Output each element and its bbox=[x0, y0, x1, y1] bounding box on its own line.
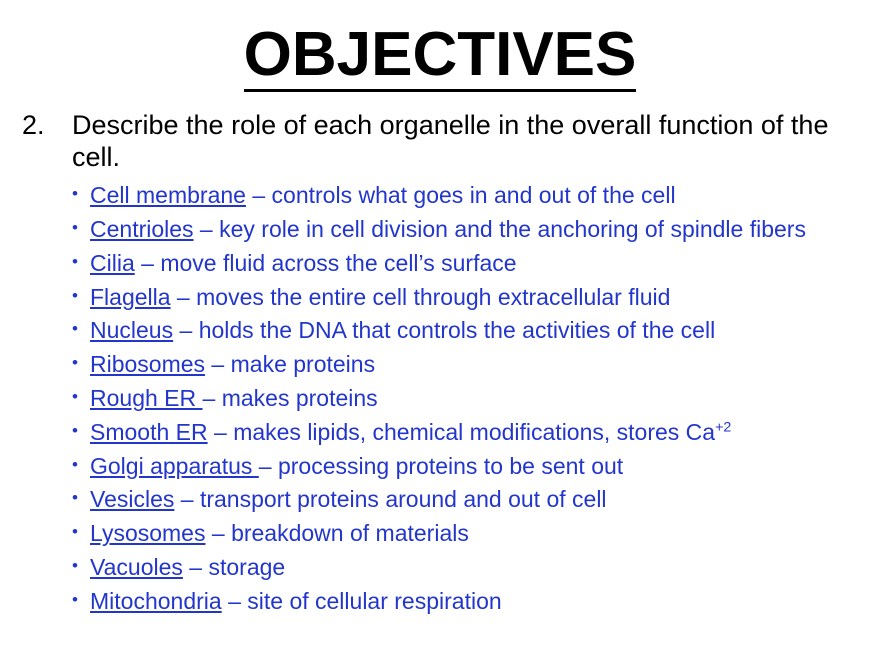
organelle-term: Mitochondria bbox=[90, 588, 222, 614]
organelle-description: breakdown of materials bbox=[231, 520, 469, 546]
slide-canvas: OBJECTIVES 2. Describe the role of each … bbox=[0, 0, 880, 660]
bullet-dot-icon: • bbox=[72, 213, 78, 243]
list-item: •Centrioles – key role in cell division … bbox=[0, 213, 880, 247]
list-item: •Rough ER – makes proteins bbox=[0, 382, 880, 416]
organelle-description: move fluid across the cell’s surface bbox=[160, 250, 516, 276]
organelle-description: makes lipids, chemical modifications, st… bbox=[233, 419, 715, 445]
organelle-term: Nucleus bbox=[90, 317, 173, 343]
term-separator: – bbox=[135, 250, 161, 276]
term-separator: – bbox=[173, 317, 199, 343]
bullet-dot-icon: • bbox=[72, 314, 78, 344]
term-separator: – bbox=[246, 182, 272, 208]
term-separator: – bbox=[183, 554, 209, 580]
organelle-description: moves the entire cell through extracellu… bbox=[196, 284, 670, 310]
term-separator: – bbox=[203, 385, 222, 411]
list-item: •Lysosomes – breakdown of materials bbox=[0, 517, 880, 551]
organelle-term: Cell membrane bbox=[90, 182, 246, 208]
list-item: •Flagella – moves the entire cell throug… bbox=[0, 281, 880, 315]
title-container: OBJECTIVES bbox=[0, 0, 880, 92]
list-item: •Cell membrane – controls what goes in a… bbox=[0, 179, 880, 213]
term-separator: – bbox=[194, 216, 220, 242]
organelle-term: Lysosomes bbox=[90, 520, 205, 546]
bullet-dot-icon: • bbox=[72, 517, 78, 547]
organelle-term: Vacuoles bbox=[90, 554, 183, 580]
list-item: •Nucleus – holds the DNA that controls t… bbox=[0, 314, 880, 348]
bullet-dot-icon: • bbox=[72, 281, 78, 311]
bullet-dot-icon: • bbox=[72, 348, 78, 378]
bullet-dot-icon: • bbox=[72, 179, 78, 209]
organelle-term: Flagella bbox=[90, 284, 171, 310]
charge-superscript: +2 bbox=[715, 419, 731, 435]
organelle-term: Cilia bbox=[90, 250, 135, 276]
page-title: OBJECTIVES bbox=[244, 22, 637, 92]
term-separator: – bbox=[208, 419, 234, 445]
organelle-description: make proteins bbox=[231, 351, 375, 377]
objective-text: Describe the role of each organelle in t… bbox=[72, 110, 828, 172]
organelle-description: processing proteins to be sent out bbox=[278, 453, 623, 479]
list-item: •Vesicles – transport proteins around an… bbox=[0, 483, 880, 517]
organelle-term: Ribosomes bbox=[90, 351, 205, 377]
organelle-list: •Cell membrane – controls what goes in a… bbox=[0, 179, 880, 618]
bullet-dot-icon: • bbox=[72, 416, 78, 446]
organelle-description: storage bbox=[209, 554, 286, 580]
bullet-dot-icon: • bbox=[72, 450, 78, 480]
organelle-description: makes proteins bbox=[222, 385, 378, 411]
term-separator: – bbox=[259, 453, 278, 479]
organelle-description: key role in cell division and the anchor… bbox=[219, 216, 806, 242]
list-item: •Golgi apparatus – processing proteins t… bbox=[0, 450, 880, 484]
organelle-term: Smooth ER bbox=[90, 419, 208, 445]
list-item: •Smooth ER – makes lipids, chemical modi… bbox=[0, 416, 880, 450]
organelle-description: transport proteins around and out of cel… bbox=[200, 486, 607, 512]
list-item: •Ribosomes – make proteins bbox=[0, 348, 880, 382]
organelle-term: Golgi apparatus bbox=[90, 453, 259, 479]
term-separator: – bbox=[205, 351, 231, 377]
bullet-dot-icon: • bbox=[72, 382, 78, 412]
term-separator: – bbox=[222, 588, 248, 614]
term-separator: – bbox=[171, 284, 197, 310]
bullet-dot-icon: • bbox=[72, 585, 78, 615]
list-item: •Vacuoles – storage bbox=[0, 551, 880, 585]
organelle-description: site of cellular respiration bbox=[247, 588, 501, 614]
term-separator: – bbox=[174, 486, 200, 512]
bullet-dot-icon: • bbox=[72, 483, 78, 513]
organelle-description: holds the DNA that controls the activiti… bbox=[199, 317, 716, 343]
numbered-objective: 2. Describe the role of each organelle i… bbox=[0, 110, 880, 173]
organelle-term: Vesicles bbox=[90, 486, 174, 512]
organelle-term: Centrioles bbox=[90, 216, 194, 242]
list-item: •Mitochondria – site of cellular respira… bbox=[0, 585, 880, 619]
bullet-dot-icon: • bbox=[72, 551, 78, 581]
objective-number: 2. bbox=[22, 110, 45, 142]
term-separator: – bbox=[205, 520, 231, 546]
organelle-term: Rough ER bbox=[90, 385, 203, 411]
bullet-dot-icon: • bbox=[72, 247, 78, 277]
organelle-description: controls what goes in and out of the cel… bbox=[272, 182, 676, 208]
list-item: •Cilia – move fluid across the cell’s su… bbox=[0, 247, 880, 281]
